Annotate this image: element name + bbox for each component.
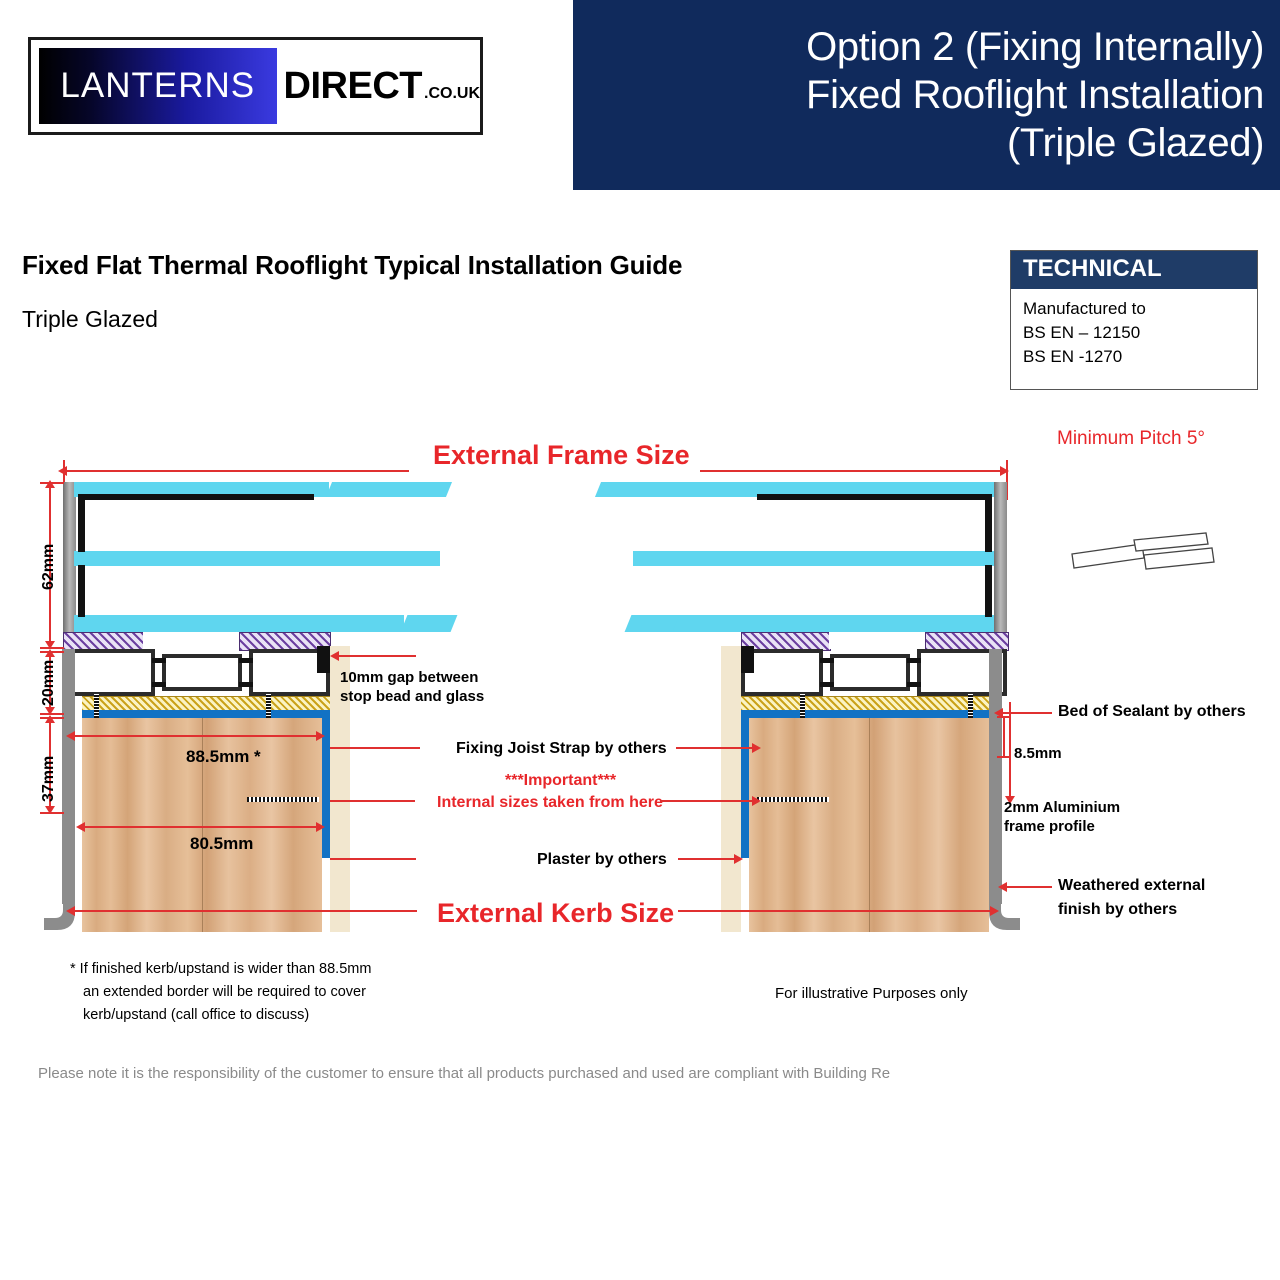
glass-spacer-vertical-upper-right xyxy=(985,494,992,552)
technical-box: TECHNICAL Manufactured to BS EN – 12150 … xyxy=(1010,250,1258,390)
kerb-footnote: * If finished kerb/upstand is wider than… xyxy=(70,958,371,1027)
callout-alu-line-1: 2mm Aluminium xyxy=(1004,798,1120,817)
fixing-screw-right-2 xyxy=(968,694,973,718)
header-line-1: Option 2 (Fixing Internally) xyxy=(806,23,1264,71)
glass-pane-outer-left-taper xyxy=(326,482,452,497)
header-banner: Option 2 (Fixing Internally) Fixed Roofl… xyxy=(573,0,1280,190)
alu-link-lower-left-a xyxy=(152,682,166,687)
alu-link-upper-right-a xyxy=(820,658,834,663)
plaster-finish-right xyxy=(721,646,741,932)
callout-joist-strap-arrow-right xyxy=(752,743,761,753)
logo-brand-right: DIRECT xyxy=(284,65,422,108)
alu-chamber-centre-left xyxy=(162,654,242,691)
dim-8-5mm-label: 8.5mm xyxy=(1014,745,1062,762)
thermal-break-gap-right xyxy=(829,632,925,649)
dim-37mm-tick-top xyxy=(40,717,64,719)
logo-brand-left: LANTERNS xyxy=(60,66,255,106)
dim-80-5mm-arrow-left xyxy=(76,822,85,832)
callout-alu-line-2: frame profile xyxy=(1004,817,1095,836)
callout-joist-strap-label: Fixing Joist Strap by others xyxy=(456,739,667,758)
callout-joist-strap-leader-left xyxy=(330,747,420,749)
weathered-finish-left xyxy=(62,649,75,904)
blue-dpc-layer-right xyxy=(741,710,989,718)
dim-80-5mm-arrow-right xyxy=(316,822,325,832)
callout-plaster-leader xyxy=(678,858,740,860)
dim-88-5mm-label: 88.5mm * xyxy=(186,747,261,767)
weathered-finish-right xyxy=(989,649,1002,904)
callout-weather-leader xyxy=(1004,886,1052,888)
dim-80-5mm-label: 80.5mm xyxy=(190,834,253,854)
dim-80-5mm-line xyxy=(82,826,322,828)
dim-88-5mm-arrow-right xyxy=(316,731,325,741)
dim-20mm-tick-top xyxy=(40,651,64,653)
callout-sealant-arrow xyxy=(994,708,1003,718)
technical-line-0: Manufactured to xyxy=(1023,297,1245,321)
dim-62mm-label: 62mm xyxy=(40,544,58,590)
glass-pane-middle-right xyxy=(633,551,994,566)
company-logo: LANTERNS DIRECT .CO.UK xyxy=(28,37,483,135)
callout-important-line-2: Internal sizes taken from here xyxy=(437,793,663,812)
technical-heading: TECHNICAL xyxy=(1011,251,1257,289)
alu-link-lower-left-b xyxy=(239,682,253,687)
glass-pane-inner-right xyxy=(668,615,994,632)
building-regs-disclaimer: Please note it is the responsibility of … xyxy=(38,1065,890,1082)
logo-domain: .CO.UK xyxy=(424,85,480,103)
header-line-2: Fixed Rooflight Installation xyxy=(806,71,1264,119)
glass-spacer-vertical-upper-left xyxy=(78,494,85,552)
fixing-screw-left-1 xyxy=(94,694,99,718)
kerb-size-arrow-left xyxy=(66,906,75,916)
dim-88-5mm-arrow-left xyxy=(66,731,75,741)
kerb-size-leader-right xyxy=(678,910,996,912)
kerb-footnote-line-2: kerb/upstand (call office to discuss) xyxy=(70,1004,371,1027)
callout-important-arrow-right xyxy=(752,796,761,806)
alu-link-upper-right-b xyxy=(907,658,921,663)
weathered-finish-curve-left xyxy=(44,890,84,938)
callout-important-leader-right xyxy=(660,800,758,802)
alu-link-lower-right-b xyxy=(907,682,921,687)
callout-important-leader-left xyxy=(330,800,415,802)
callout-gap-line-1: 10mm gap between xyxy=(340,668,478,687)
glass-pane-inner-left-taper xyxy=(401,615,458,632)
dim-8-5mm-line xyxy=(1003,716,1005,758)
fixing-screw-right-1 xyxy=(800,694,805,718)
external-frame-size-label: External Frame Size xyxy=(433,440,690,471)
kerb-size-leader-left xyxy=(72,910,417,912)
kerb-footnote-line-0: * If finished kerb/upstand is wider than… xyxy=(70,958,371,981)
technical-line-1: BS EN – 12150 xyxy=(1023,321,1245,345)
dim-37mm-label: 37mm xyxy=(40,756,58,802)
page-subtitle: Triple Glazed xyxy=(22,306,158,333)
blue-dpc-vertical-right xyxy=(741,710,749,858)
header-line-3: (Triple Glazed) xyxy=(1007,119,1264,167)
kerb-footnote-line-1: an extended border will be required to c… xyxy=(70,981,371,1004)
timber-kerb-joint-right xyxy=(869,718,870,932)
alu-link-upper-left-a xyxy=(152,658,166,663)
thermal-break-gap-left xyxy=(143,632,239,649)
alu-chamber-centre-right xyxy=(830,654,910,691)
callout-plaster-arrow xyxy=(734,854,743,864)
technical-line-2: BS EN -1270 xyxy=(1023,345,1245,369)
callout-gap-line-2: stop bead and glass xyxy=(340,687,484,706)
external-kerb-size-label: External Kerb Size xyxy=(437,898,674,929)
glass-pane-inner-right-taper xyxy=(625,615,680,632)
installation-diagram: External Frame Size Minimum Pitch 5° xyxy=(0,430,1280,970)
alu-link-lower-right-a xyxy=(820,682,834,687)
glass-spacer-top-right xyxy=(757,494,985,500)
pitch-diagram-icon xyxy=(1060,528,1220,580)
fixing-joist-strap-right xyxy=(757,797,829,802)
dim-37mm-tick-bottom xyxy=(40,812,64,814)
glass-spacer-vertical-lower-left xyxy=(78,565,85,617)
sealant-bed-right xyxy=(741,696,989,711)
callout-alu-leader-vertical xyxy=(1009,702,1011,798)
glass-pane-middle-left xyxy=(74,551,440,566)
glass-spacer-top-left xyxy=(78,494,314,500)
callout-gap-arrow xyxy=(330,651,339,661)
callout-gap-leader xyxy=(336,655,416,657)
alu-chamber-outer-left xyxy=(63,649,155,696)
callout-plaster-leader-left xyxy=(330,858,416,860)
dim-88-5mm-line xyxy=(72,735,322,737)
fixing-screw-left-2 xyxy=(266,694,271,718)
callout-weather-line-2: finish by others xyxy=(1058,900,1177,919)
callout-important-line-1: ***Important*** xyxy=(505,771,616,790)
callout-sealant-label: Bed of Sealant by others xyxy=(1058,702,1246,721)
dim-20mm-label: 20mm xyxy=(40,660,58,706)
callout-plaster-label: Plaster by others xyxy=(537,850,667,869)
blue-dpc-layer-left xyxy=(82,710,330,718)
alu-link-upper-left-b xyxy=(239,658,253,663)
illustrative-purposes-note: For illustrative Purposes only xyxy=(775,985,968,1002)
glass-pane-outer-right-taper xyxy=(595,482,751,497)
frame-size-arrow-right xyxy=(700,470,1002,472)
callout-joist-strap-leader-right xyxy=(676,747,758,749)
page-title: Fixed Flat Thermal Rooflight Typical Ins… xyxy=(22,250,682,281)
callout-weather-arrow xyxy=(998,882,1007,892)
glass-pane-inner-left xyxy=(74,615,404,632)
technical-body: Manufactured to BS EN – 12150 BS EN -127… xyxy=(1011,289,1257,377)
frame-size-arrow-left xyxy=(64,470,409,472)
dim-62mm-tick-top xyxy=(40,482,64,484)
logo-right-block: DIRECT .CO.UK xyxy=(277,65,480,108)
minimum-pitch-label: Minimum Pitch 5° xyxy=(1057,428,1205,450)
callout-weather-line-1: Weathered external xyxy=(1058,876,1205,895)
fixing-joist-strap-left xyxy=(247,797,319,802)
sealant-bed-left xyxy=(82,696,330,711)
logo-gradient-block: LANTERNS xyxy=(39,48,277,124)
callout-sealant-leader xyxy=(1000,712,1052,714)
glass-spacer-vertical-lower-right xyxy=(985,565,992,617)
kerb-size-arrow-right xyxy=(990,906,999,916)
